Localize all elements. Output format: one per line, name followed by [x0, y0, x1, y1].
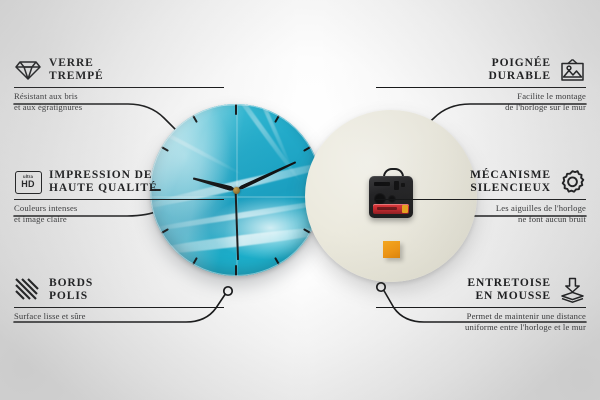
feature-header: BORDSPOLIS: [14, 276, 224, 304]
gear-icon: [558, 168, 586, 196]
foam-spacer: [383, 241, 400, 258]
connector-dot-bords: [224, 287, 232, 295]
picture-frame-icon: [558, 56, 586, 84]
feature-rule: [14, 199, 224, 200]
feature-bords-polis: BORDSPOLIS Surface lisse et sûre: [14, 276, 224, 322]
feature-header: ultra HD IMPRESSION DEHAUTE QUALITÉ: [14, 168, 224, 196]
feature-rule: [14, 87, 224, 88]
diagonal-stripes-icon: [14, 276, 42, 304]
feature-subtitle: Facilite le montagede l'horloge sur le m…: [376, 91, 586, 112]
feature-subtitle: Permet de maintenir une distanceuniforme…: [376, 311, 586, 332]
feature-impression-haute-qualite: ultra HD IMPRESSION DEHAUTE QUALITÉ Coul…: [14, 168, 224, 225]
feature-title: IMPRESSION DEHAUTE QUALITÉ: [49, 169, 158, 196]
feature-header: MÉCANISMESILENCIEUX: [376, 168, 586, 196]
feature-title: POIGNÉEDURABLE: [488, 57, 551, 84]
arrow-down-layers-icon: [558, 276, 586, 304]
feature-mecanisme-silencieux: MÉCANISMESILENCIEUX Les aiguilles de l'h…: [376, 168, 586, 225]
feature-header: VERRETREMPÉ: [14, 56, 224, 84]
feature-title: ENTRETOISEEN MOUSSE: [467, 277, 551, 304]
feature-title: MÉCANISMESILENCIEUX: [470, 169, 551, 196]
feature-subtitle: Résistant aux briset aux égratignures: [14, 91, 224, 112]
feature-rule: [376, 87, 586, 88]
feature-subtitle: Surface lisse et sûre: [14, 311, 224, 322]
feature-title: VERRETREMPÉ: [49, 57, 104, 84]
feature-verre-trempe: VERRETREMPÉ Résistant aux briset aux égr…: [14, 56, 224, 113]
feature-entretoise-en-mousse: ENTRETOISEEN MOUSSE Permet de maintenir …: [376, 276, 586, 333]
ultra-hd-icon: ultra HD: [14, 168, 42, 196]
feature-rule: [376, 307, 586, 308]
feature-subtitle: Les aiguilles de l'horlogene font aucun …: [376, 203, 586, 224]
feature-header: POIGNÉEDURABLE: [376, 56, 586, 84]
infographic-canvas: VERRETREMPÉ Résistant aux briset aux égr…: [0, 0, 600, 400]
diamond-icon: [14, 56, 42, 84]
feature-poignee-durable: POIGNÉEDURABLE Facilite le montagede l'h…: [376, 56, 586, 113]
feature-rule: [14, 307, 224, 308]
feature-title: BORDSPOLIS: [49, 277, 93, 304]
feature-header: ENTRETOISEEN MOUSSE: [376, 276, 586, 304]
feature-rule: [376, 199, 586, 200]
feature-subtitle: Couleurs intenseset image claire: [14, 203, 224, 224]
